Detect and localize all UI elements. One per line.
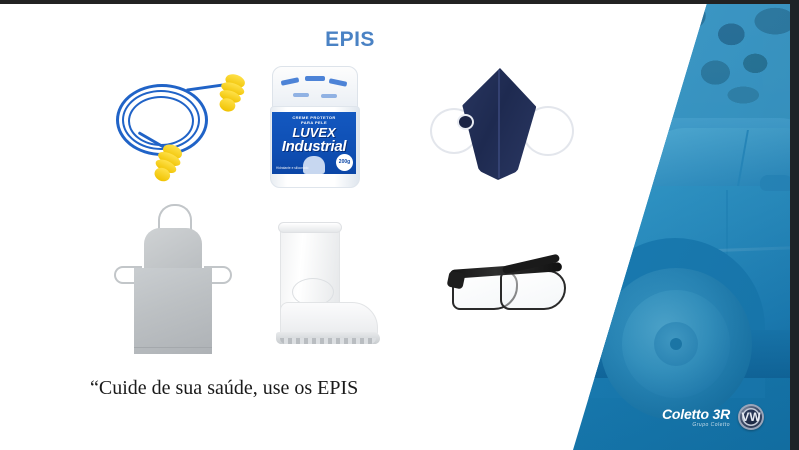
company-tagline: Grupo Coletto — [662, 423, 730, 428]
jar-lid-brand-mark-1 — [281, 77, 300, 86]
leather-apron-image — [118, 204, 228, 356]
jar-label-weight-badge: 200g — [336, 154, 353, 171]
jar-lid-brand-mark-2 — [305, 76, 325, 81]
earplug-right — [212, 71, 249, 117]
presentation-slide: EPIS CREME PROTETOR — [0, 0, 799, 450]
respirator-mask-image — [430, 62, 570, 190]
boot-cuff — [278, 222, 342, 233]
vw-roundel-icon: VW — [738, 404, 764, 430]
vw-monogram: VW — [738, 404, 764, 430]
glasses-hinge — [447, 271, 466, 290]
jar-label-fine-print: Hidratante e siliconado — [276, 166, 308, 170]
jar-label-mascot-icon — [303, 156, 325, 174]
apron-hem — [134, 347, 212, 348]
jar-lid-brand-mark-3 — [329, 78, 348, 87]
mask-center-seam — [498, 70, 500, 178]
pvc-safety-boot-image — [262, 220, 390, 352]
slide-quote: “Cuide de sua saúde, use os EPIS — [90, 377, 358, 400]
jar-lid-brand-mark-4 — [293, 93, 309, 97]
jar-label: CREME PROTETOR PARA PELE LUVEX Industria… — [272, 112, 356, 174]
top-edge-bar — [0, 0, 799, 4]
apron-skirt — [134, 268, 212, 354]
coletto-logo-text: Coletto 3R Grupo Coletto — [662, 407, 730, 428]
glasses-lens-right — [500, 270, 566, 310]
right-edge-bar — [790, 0, 799, 450]
jar-label-product: Industrial — [272, 139, 356, 154]
mask-nose-clip — [457, 114, 474, 130]
boot-tread — [280, 338, 376, 344]
protective-cream-jar-image: CREME PROTETOR PARA PELE LUVEX Industria… — [268, 66, 360, 188]
jar-lid-brand-mark-5 — [321, 94, 337, 98]
safety-glasses-image — [446, 258, 566, 314]
company-name: Coletto 3R — [662, 407, 730, 421]
earplug-cord-loop-3 — [128, 96, 194, 146]
company-logo: Coletto 3R Grupo Coletto VW — [662, 404, 764, 430]
slide-title: EPIS — [0, 28, 700, 52]
corded-earplugs-image — [108, 68, 258, 188]
